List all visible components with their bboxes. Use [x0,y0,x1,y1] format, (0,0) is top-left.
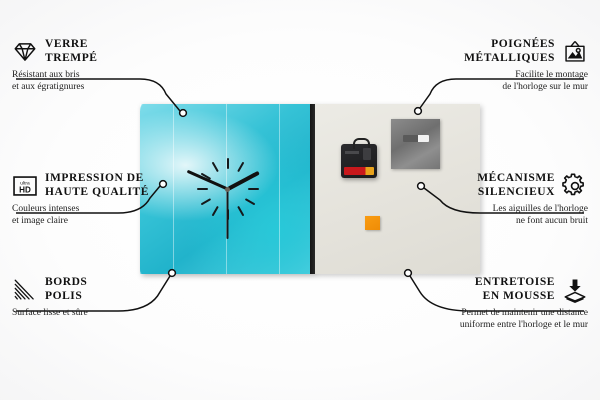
feature-title: IMPRESSION DE HAUTE QUALITÉ [45,172,149,199]
movement-detail [345,151,359,154]
feature-heading: ultra HD IMPRESSION DE HAUTE QUALITÉ [12,172,222,199]
feature-description: Couleurs intenses et image claire [12,204,222,227]
hour-hand [227,171,260,191]
feature-title: BORDS POLIS [45,276,87,303]
feature-title: POIGNÉES MÉTALLIQUES [464,38,555,65]
hour-tick [227,158,229,220]
feature-heading: BORDS POLIS [12,276,222,303]
gear-icon [562,173,588,199]
movement-knob [363,148,371,160]
feature-verre-trempe[interactable]: VERRE TREMPÉ Résistant aux bris et aux é… [12,38,222,93]
feature-heading: ENTRETOISE EN MOUSSE [378,276,588,303]
feature-description: Permet de maintenir une distance uniform… [378,308,588,331]
svg-text:HD: HD [19,185,31,194]
second-hand [227,189,229,239]
feature-description: Résistant aux bris et aux égratignures [12,70,222,93]
infographic-canvas: VERRE TREMPÉ Résistant aux bris et aux é… [0,0,600,400]
hanger-slot [403,135,429,142]
feature-description: Facilite le montage de l'horloge sur le … [378,70,588,93]
feature-impression-haute-qualite[interactable]: ultra HD IMPRESSION DE HAUTE QUALITÉ Cou… [12,172,222,227]
ultra-hd-icon: ultra HD [12,173,38,199]
diamond-icon [12,39,38,65]
feature-mecanisme-silencieux[interactable]: MÉCANISME SILENCIEUX Les aiguilles de l'… [378,172,588,227]
feature-title: VERRE TREMPÉ [45,38,98,65]
feature-bords-polis[interactable]: BORDS POLIS Surface lisse et sûre [12,276,222,320]
picture-frame-hanger-icon [562,39,588,65]
polished-edge-icon [12,277,38,303]
feature-description: Surface lisse et sûre [12,308,222,320]
metal-hanger-plate [391,119,440,169]
feature-title: MÉCANISME SILENCIEUX [477,172,555,199]
feature-heading: MÉCANISME SILENCIEUX [378,172,588,199]
feature-heading: VERRE TREMPÉ [12,38,222,65]
feature-entretoise-en-mousse[interactable]: ENTRETOISE EN MOUSSE Permet de maintenir… [378,276,588,331]
clock-movement [341,144,377,178]
foam-spacer-icon [562,277,588,303]
clock-center-hub [225,187,230,192]
feature-description: Les aiguilles de l'horloge ne font aucun… [378,204,588,227]
hour-tick [227,158,229,220]
feature-poignees-metalliques[interactable]: POIGNÉES MÉTALLIQUES Facilite le montage… [378,38,588,93]
battery [344,167,374,175]
feature-title: ENTRETOISE EN MOUSSE [475,276,555,303]
glass-seam [226,104,227,274]
glass-seam [279,104,280,274]
feature-heading: POIGNÉES MÉTALLIQUES [378,38,588,65]
